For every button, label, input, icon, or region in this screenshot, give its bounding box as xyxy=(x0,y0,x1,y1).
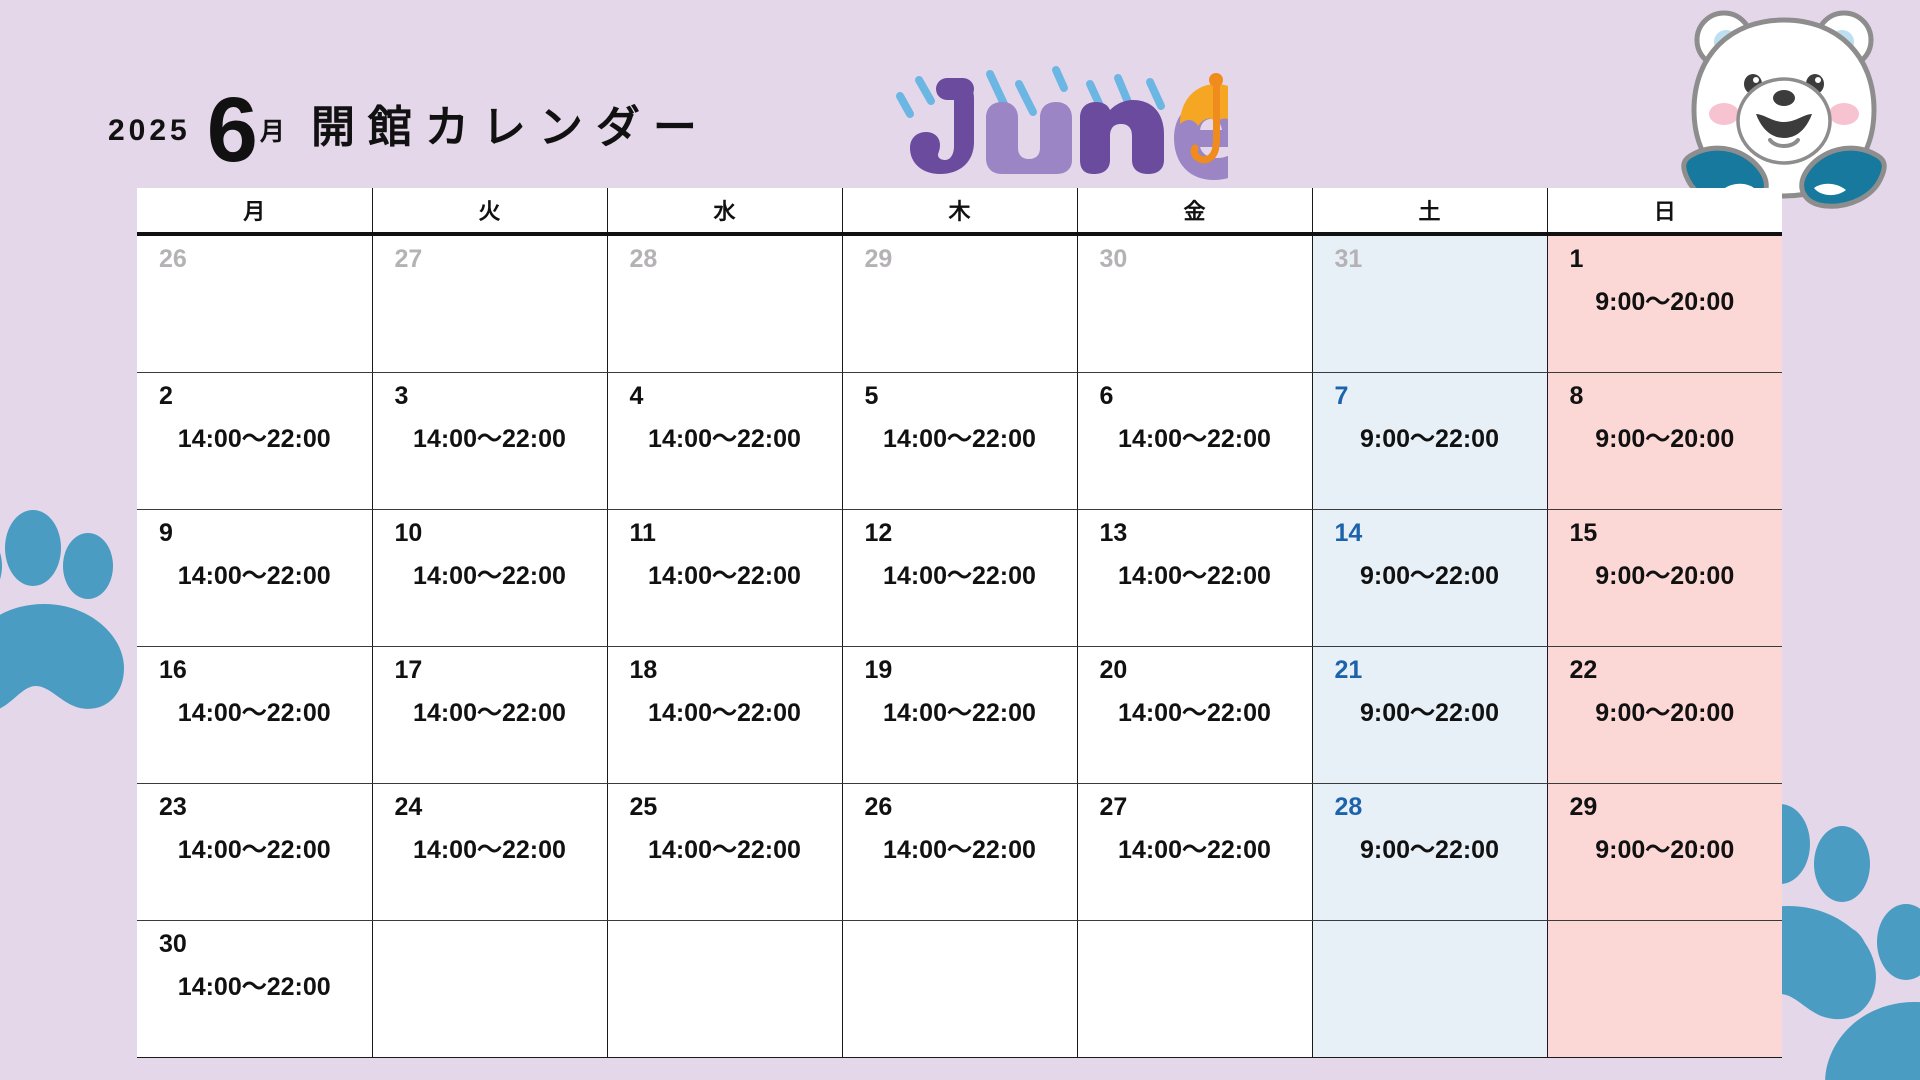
day-opening-hours: 14:00〜22:00 xyxy=(1078,685,1312,729)
day-number: 29 xyxy=(1548,784,1783,822)
day-opening-hours: 14:00〜22:00 xyxy=(843,411,1077,455)
day-number: 21 xyxy=(1313,647,1547,685)
day-number: 29 xyxy=(843,236,1077,274)
calendar-day-cell-sun[interactable]: 299:00〜20:00 xyxy=(1547,784,1782,921)
weekday-header-thu: 木 xyxy=(842,188,1077,234)
polar-bear-mascot-icon xyxy=(1676,4,1892,212)
day-number: 30 xyxy=(1078,236,1312,274)
title-year: 2025 xyxy=(108,114,191,168)
calendar-day-cell-fri[interactable]: 614:00〜22:00 xyxy=(1077,373,1312,510)
title-month-number: 6 xyxy=(207,93,256,168)
calendar-day-cell-sun[interactable]: 159:00〜20:00 xyxy=(1547,510,1782,647)
day-opening-hours: 14:00〜22:00 xyxy=(373,548,607,592)
weekday-header-fri: 金 xyxy=(1077,188,1312,234)
day-number: 4 xyxy=(608,373,842,411)
calendar-day-cell-mon[interactable]: 26 xyxy=(137,234,372,373)
day-number xyxy=(843,921,1077,931)
day-opening-hours: 14:00〜22:00 xyxy=(373,685,607,729)
calendar-week-row: 26272829303119:00〜20:00 xyxy=(137,234,1782,373)
calendar-day-cell-wed[interactable]: 414:00〜22:00 xyxy=(607,373,842,510)
day-number: 11 xyxy=(608,510,842,548)
june-letter-n xyxy=(1080,100,1164,174)
calendar-day-cell-tue[interactable]: 27 xyxy=(372,234,607,373)
calendar-day-cell-fri[interactable]: 2714:00〜22:00 xyxy=(1077,784,1312,921)
calendar-week-row: 3014:00〜22:00 xyxy=(137,921,1782,1058)
day-opening-hours: 14:00〜22:00 xyxy=(843,685,1077,729)
calendar-day-cell-wed[interactable] xyxy=(607,921,842,1058)
day-opening-hours: 9:00〜22:00 xyxy=(1313,411,1547,455)
calendar-day-cell-thu[interactable]: 29 xyxy=(842,234,1077,373)
day-opening-hours: 14:00〜22:00 xyxy=(608,411,842,455)
calendar-day-cell-sat[interactable]: 149:00〜22:00 xyxy=(1312,510,1547,647)
june-logo xyxy=(878,56,1228,182)
day-number xyxy=(1548,921,1783,931)
june-letter-j xyxy=(910,78,974,174)
calendar-day-cell-tue[interactable]: 314:00〜22:00 xyxy=(372,373,607,510)
day-opening-hours xyxy=(1078,274,1312,282)
june-logo-svg xyxy=(878,56,1228,182)
day-number: 15 xyxy=(1548,510,1783,548)
calendar-day-cell-fri[interactable]: 2014:00〜22:00 xyxy=(1077,647,1312,784)
day-number: 14 xyxy=(1313,510,1547,548)
day-number: 25 xyxy=(608,784,842,822)
day-opening-hours: 9:00〜20:00 xyxy=(1548,685,1783,729)
day-opening-hours: 14:00〜22:00 xyxy=(137,548,372,592)
day-number: 1 xyxy=(1548,236,1783,274)
day-opening-hours xyxy=(1313,274,1547,282)
day-number: 17 xyxy=(373,647,607,685)
title-month-kanji: 月 xyxy=(260,112,285,168)
day-opening-hours: 9:00〜20:00 xyxy=(1548,822,1783,866)
day-opening-hours: 14:00〜22:00 xyxy=(1078,822,1312,866)
day-number: 28 xyxy=(608,236,842,274)
day-number: 2 xyxy=(137,373,372,411)
day-opening-hours: 9:00〜20:00 xyxy=(1548,548,1783,592)
day-number: 16 xyxy=(137,647,372,685)
page-title: 2025 6 月 開館カレンダー xyxy=(108,58,710,168)
day-opening-hours: 14:00〜22:00 xyxy=(137,411,372,455)
calendar-day-cell-sun[interactable] xyxy=(1547,921,1782,1058)
calendar-day-cell-fri[interactable]: 30 xyxy=(1077,234,1312,373)
day-number xyxy=(1078,921,1312,931)
calendar-day-cell-sun[interactable]: 89:00〜20:00 xyxy=(1547,373,1782,510)
calendar-day-cell-fri[interactable]: 1314:00〜22:00 xyxy=(1077,510,1312,647)
calendar-day-cell-tue[interactable]: 1014:00〜22:00 xyxy=(372,510,607,647)
day-number: 31 xyxy=(1313,236,1547,274)
calendar-day-cell-tue[interactable]: 2414:00〜22:00 xyxy=(372,784,607,921)
calendar-day-cell-sun[interactable]: 229:00〜20:00 xyxy=(1547,647,1782,784)
day-opening-hours: 14:00〜22:00 xyxy=(843,822,1077,866)
day-opening-hours: 14:00〜22:00 xyxy=(373,411,607,455)
calendar-week-row: 214:00〜22:00314:00〜22:00414:00〜22:00514:… xyxy=(137,373,1782,510)
weekday-header-mon: 月 xyxy=(137,188,372,234)
calendar-day-cell-mon[interactable]: 3014:00〜22:00 xyxy=(137,921,372,1058)
day-opening-hours: 14:00〜22:00 xyxy=(843,548,1077,592)
calendar-day-cell-sat[interactable]: 289:00〜22:00 xyxy=(1312,784,1547,921)
weekday-header-sat: 土 xyxy=(1312,188,1547,234)
calendar-day-cell-sat[interactable]: 31 xyxy=(1312,234,1547,373)
day-opening-hours: 14:00〜22:00 xyxy=(137,959,372,1003)
calendar-day-cell-sat[interactable]: 219:00〜22:00 xyxy=(1312,647,1547,784)
day-number: 28 xyxy=(1313,784,1547,822)
day-number: 12 xyxy=(843,510,1077,548)
day-opening-hours: 14:00〜22:00 xyxy=(608,685,842,729)
day-opening-hours xyxy=(373,274,607,282)
day-opening-hours: 14:00〜22:00 xyxy=(608,548,842,592)
day-number: 3 xyxy=(373,373,607,411)
day-opening-hours: 9:00〜20:00 xyxy=(1548,411,1783,455)
day-number xyxy=(1313,921,1547,931)
day-number: 18 xyxy=(608,647,842,685)
day-number: 27 xyxy=(373,236,607,274)
day-number: 24 xyxy=(373,784,607,822)
day-opening-hours: 14:00〜22:00 xyxy=(137,822,372,866)
day-number xyxy=(608,921,842,931)
calendar-day-cell-wed[interactable]: 1114:00〜22:00 xyxy=(607,510,842,647)
weekday-header-tue: 火 xyxy=(372,188,607,234)
day-number: 13 xyxy=(1078,510,1312,548)
calendar-page: 2025 6 月 開館カレンダー xyxy=(0,0,1920,1080)
day-number: 30 xyxy=(137,921,372,959)
calendar-day-cell-fri[interactable] xyxy=(1077,921,1312,1058)
day-number: 9 xyxy=(137,510,372,548)
calendar-day-cell-thu[interactable] xyxy=(842,921,1077,1058)
calendar-week-row: 2314:00〜22:002414:00〜22:002514:00〜22:002… xyxy=(137,784,1782,921)
day-opening-hours xyxy=(137,274,372,282)
calendar-day-cell-tue[interactable]: 1714:00〜22:00 xyxy=(372,647,607,784)
day-number: 7 xyxy=(1313,373,1547,411)
calendar-day-cell-wed[interactable]: 28 xyxy=(607,234,842,373)
day-number: 20 xyxy=(1078,647,1312,685)
calendar-week-row: 914:00〜22:001014:00〜22:001114:00〜22:0012… xyxy=(137,510,1782,647)
calendar-day-cell-sat[interactable]: 79:00〜22:00 xyxy=(1312,373,1547,510)
day-number: 6 xyxy=(1078,373,1312,411)
calendar-day-cell-thu[interactable]: 514:00〜22:00 xyxy=(842,373,1077,510)
calendar-day-cell-sun[interactable]: 19:00〜20:00 xyxy=(1547,234,1782,373)
day-opening-hours: 14:00〜22:00 xyxy=(1078,548,1312,592)
day-opening-hours: 9:00〜20:00 xyxy=(1548,274,1783,318)
calendar-body: 26272829303119:00〜20:00214:00〜22:00314:0… xyxy=(137,234,1782,1058)
day-opening-hours: 14:00〜22:00 xyxy=(373,822,607,866)
weekday-header-wed: 水 xyxy=(607,188,842,234)
calendar-day-cell-wed[interactable]: 2514:00〜22:00 xyxy=(607,784,842,921)
weekday-header-sun: 日 xyxy=(1547,188,1782,234)
calendar-day-cell-tue[interactable] xyxy=(372,921,607,1058)
day-opening-hours xyxy=(608,274,842,282)
opening-hours-calendar: 月 火 水 木 金 土 日 26272829303119:00〜20:00214… xyxy=(137,188,1782,1058)
calendar-day-cell-mon[interactable]: 2314:00〜22:00 xyxy=(137,784,372,921)
day-number: 27 xyxy=(1078,784,1312,822)
calendar-day-cell-sat[interactable] xyxy=(1312,921,1547,1058)
day-opening-hours xyxy=(843,274,1077,282)
day-opening-hours: 14:00〜22:00 xyxy=(137,685,372,729)
day-opening-hours: 14:00〜22:00 xyxy=(1078,411,1312,455)
day-number: 5 xyxy=(843,373,1077,411)
calendar-day-cell-thu[interactable]: 2614:00〜22:00 xyxy=(842,784,1077,921)
calendar-header-row: 月 火 水 木 金 土 日 xyxy=(137,188,1782,234)
day-opening-hours: 9:00〜22:00 xyxy=(1313,548,1547,592)
paw-print-icon xyxy=(0,508,128,723)
day-opening-hours: 9:00〜22:00 xyxy=(1313,685,1547,729)
calendar-week-row: 1614:00〜22:001714:00〜22:001814:00〜22:001… xyxy=(137,647,1782,784)
day-number: 8 xyxy=(1548,373,1783,411)
calendar-day-cell-thu[interactable]: 1914:00〜22:00 xyxy=(842,647,1077,784)
day-opening-hours: 9:00〜22:00 xyxy=(1313,822,1547,866)
title-text: 開館カレンダー xyxy=(311,91,710,168)
calendar-day-cell-thu[interactable]: 1214:00〜22:00 xyxy=(842,510,1077,647)
day-number: 23 xyxy=(137,784,372,822)
calendar-day-cell-mon[interactable]: 914:00〜22:00 xyxy=(137,510,372,647)
day-number: 19 xyxy=(843,647,1077,685)
day-number: 22 xyxy=(1548,647,1783,685)
calendar-day-cell-wed[interactable]: 1814:00〜22:00 xyxy=(607,647,842,784)
calendar-day-cell-mon[interactable]: 1614:00〜22:00 xyxy=(137,647,372,784)
paw-print-icon xyxy=(1820,898,1920,1080)
day-number: 10 xyxy=(373,510,607,548)
calendar-day-cell-mon[interactable]: 214:00〜22:00 xyxy=(137,373,372,510)
day-number: 26 xyxy=(843,784,1077,822)
day-number: 26 xyxy=(137,236,372,274)
day-number xyxy=(373,921,607,931)
day-opening-hours: 14:00〜22:00 xyxy=(608,822,842,866)
